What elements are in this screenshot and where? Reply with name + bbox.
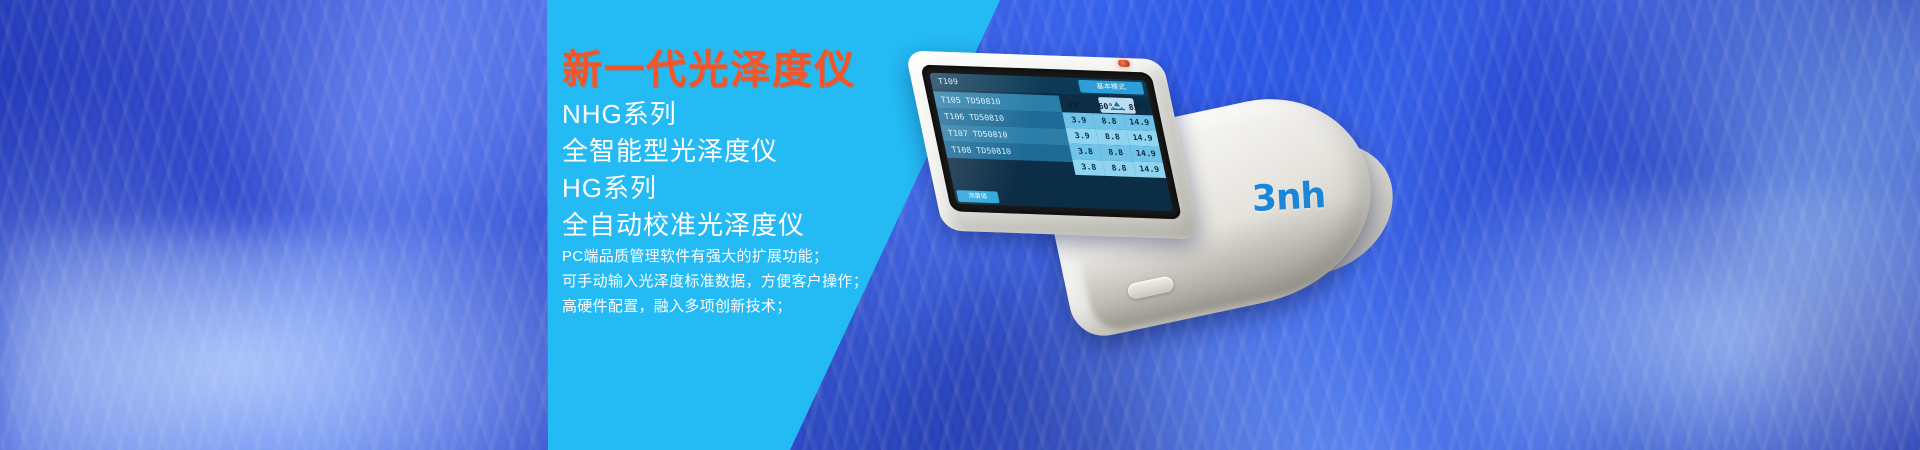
device-screen[interactable]: T109 基本模式 10:51 2019.05.08 (929, 73, 1173, 212)
table-cell: 14.9 (1126, 130, 1160, 147)
brand-logo: 3nh (1251, 175, 1326, 220)
screen-sample-list: T105 TD50810 T106 TD50810 T107 TD50810 T… (933, 91, 1073, 162)
table-row: 3.8 8.8 14.9 (1072, 159, 1166, 178)
product-banner: 新一代光泽度仪 NHG系列 全智能型光泽度仪 HG系列 全自动校准光泽度仪 PC… (0, 0, 1920, 450)
list-item[interactable]: T108 TD50810 (944, 141, 1073, 162)
table-cell: 14.9 (1123, 114, 1157, 131)
subheading-item: 全自动校准光泽度仪 (562, 207, 805, 244)
angle-header: 85° (1120, 101, 1153, 115)
table-cell: 14.9 (1129, 146, 1163, 163)
table-cell: 14.9 (1133, 161, 1167, 178)
feature-item: 可手动输入光泽度标准数据，方便客户操作； (562, 269, 868, 294)
device-head: T109 基本模式 10:51 2019.05.08 (905, 50, 1201, 239)
banner-headline: 新一代光泽度仪 (562, 48, 856, 92)
screen-mode-badge[interactable]: 基本模式 (1078, 80, 1145, 95)
table-cell: 8.8 (1092, 113, 1126, 130)
status-led-icon (1118, 60, 1131, 67)
background-glow-bottom-right (1360, 190, 1920, 450)
angle-header: 20° (1059, 99, 1092, 113)
angle-header: 60° (1090, 100, 1123, 114)
table-cell: 3.8 (1069, 144, 1103, 161)
device-body: T109 基本模式 10:51 2019.05.08 (889, 0, 1412, 422)
table-cell: 8.8 (1096, 129, 1130, 146)
table-cell: 3.9 (1066, 128, 1100, 145)
table-cell: 8.8 (1099, 145, 1133, 162)
device-screen-bezel: T109 基本模式 10:51 2019.05.08 (920, 65, 1182, 220)
gloss-meter-device: T109 基本模式 10:51 2019.05.08 (880, 10, 1400, 410)
table-cell: 3.8 (1072, 159, 1106, 176)
table-cell: 8.8 (1102, 160, 1136, 177)
banner-subheading-list: NHG系列 全智能型光泽度仪 HG系列 全自动校准光泽度仪 (562, 96, 805, 244)
screen-value-table: 3.9 8.8 14.9 3.9 8.8 14.9 3.8 (1062, 112, 1166, 178)
banner-feature-list: PC端品质管理软件有强大的扩展功能； 可手动输入光泽度标准数据，方便客户操作； … (562, 244, 868, 319)
subheading-item: 全智能型光泽度仪 (562, 133, 805, 170)
feature-item: PC端品质管理软件有强大的扩展功能； (562, 244, 868, 269)
screen-measure-button[interactable]: 测量值 (956, 190, 1000, 203)
table-cell: 3.9 (1062, 112, 1096, 129)
feature-item: 高硬件配置，融入多项创新技术； (562, 294, 868, 319)
subheading-item: NHG系列 (562, 96, 805, 133)
subheading-item: HG系列 (562, 170, 805, 207)
